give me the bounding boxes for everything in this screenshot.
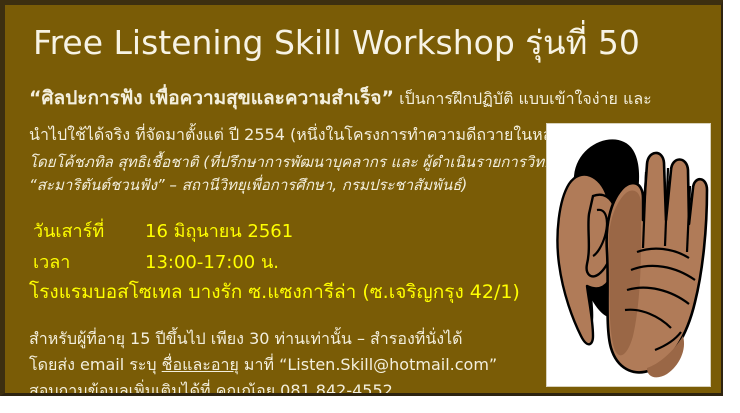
subtitle-rest: เป็นการฝึกปฏิบัติ แบบเข้าใจง่าย และ — [394, 89, 652, 108]
event-date-row: วันเสาร์ที่16 มิถุนายน 2561 — [33, 216, 293, 245]
subtitle-quote: “ศิลปะการฟัง เพื่อความสุขและความสำเร็จ” — [29, 87, 394, 109]
footer-line-3: สอบถามข้อมูลเพิ่มเติมได้ที่ คุณณ้อย 081 … — [29, 379, 393, 396]
footer-line-2: โดยส่ง email ระบุ ชื่อและอายุ มาที่ “Lis… — [29, 353, 497, 378]
subtitle-line: “ศิลปะการฟัง เพื่อความสุขและความสำเร็จ” … — [29, 83, 652, 113]
event-time-label: เวลา — [33, 247, 145, 276]
footer-line-2-email: มาที่ “Listen.Skill@hotmail.com” — [239, 355, 497, 374]
event-venue: โรงแรมบอสโซเทล บางรัก ซ.แซงการีล่า (ซ.เจ… — [29, 277, 520, 307]
description-line-3: “สะมาริตันต์ชวนฟัง” – สถานีวิทยุเพื่อการ… — [29, 173, 467, 197]
poster-canvas: Free Listening Skill Workshop รุ่นที่ 50… — [0, 0, 723, 396]
event-time-value: 13:00-17:00 น. — [145, 252, 279, 273]
event-time-row: เวลา13:00-17:00 น. — [33, 247, 279, 276]
description-line-2: โดยโค้ชภทิล สุทธิเชื้อชาติ (ที่ปรึกษาการ… — [29, 150, 553, 174]
page-title: Free Listening Skill Workshop รุ่นที่ 50 — [33, 23, 640, 63]
event-date-label: วันเสาร์ที่ — [33, 216, 145, 245]
description-line-1: นำไปใช้ได้จริง ที่จัดมาตั้งแต่ ปี 2554 (… — [29, 123, 606, 148]
footer-line-1: สำหรับผู้ที่อายุ 15 ปีขึ้นไป เพียง 30 ท่… — [29, 327, 463, 352]
event-date-value: 16 มิถุนายน 2561 — [145, 221, 293, 242]
footer-line-2-prefix: โดยส่ง email ระบุ — [29, 355, 162, 374]
hand-cupped-behind-ear-icon — [547, 124, 710, 386]
footer-name-age-underlined: ชื่อและอายุ — [162, 355, 239, 374]
illustration-frame — [546, 123, 711, 387]
